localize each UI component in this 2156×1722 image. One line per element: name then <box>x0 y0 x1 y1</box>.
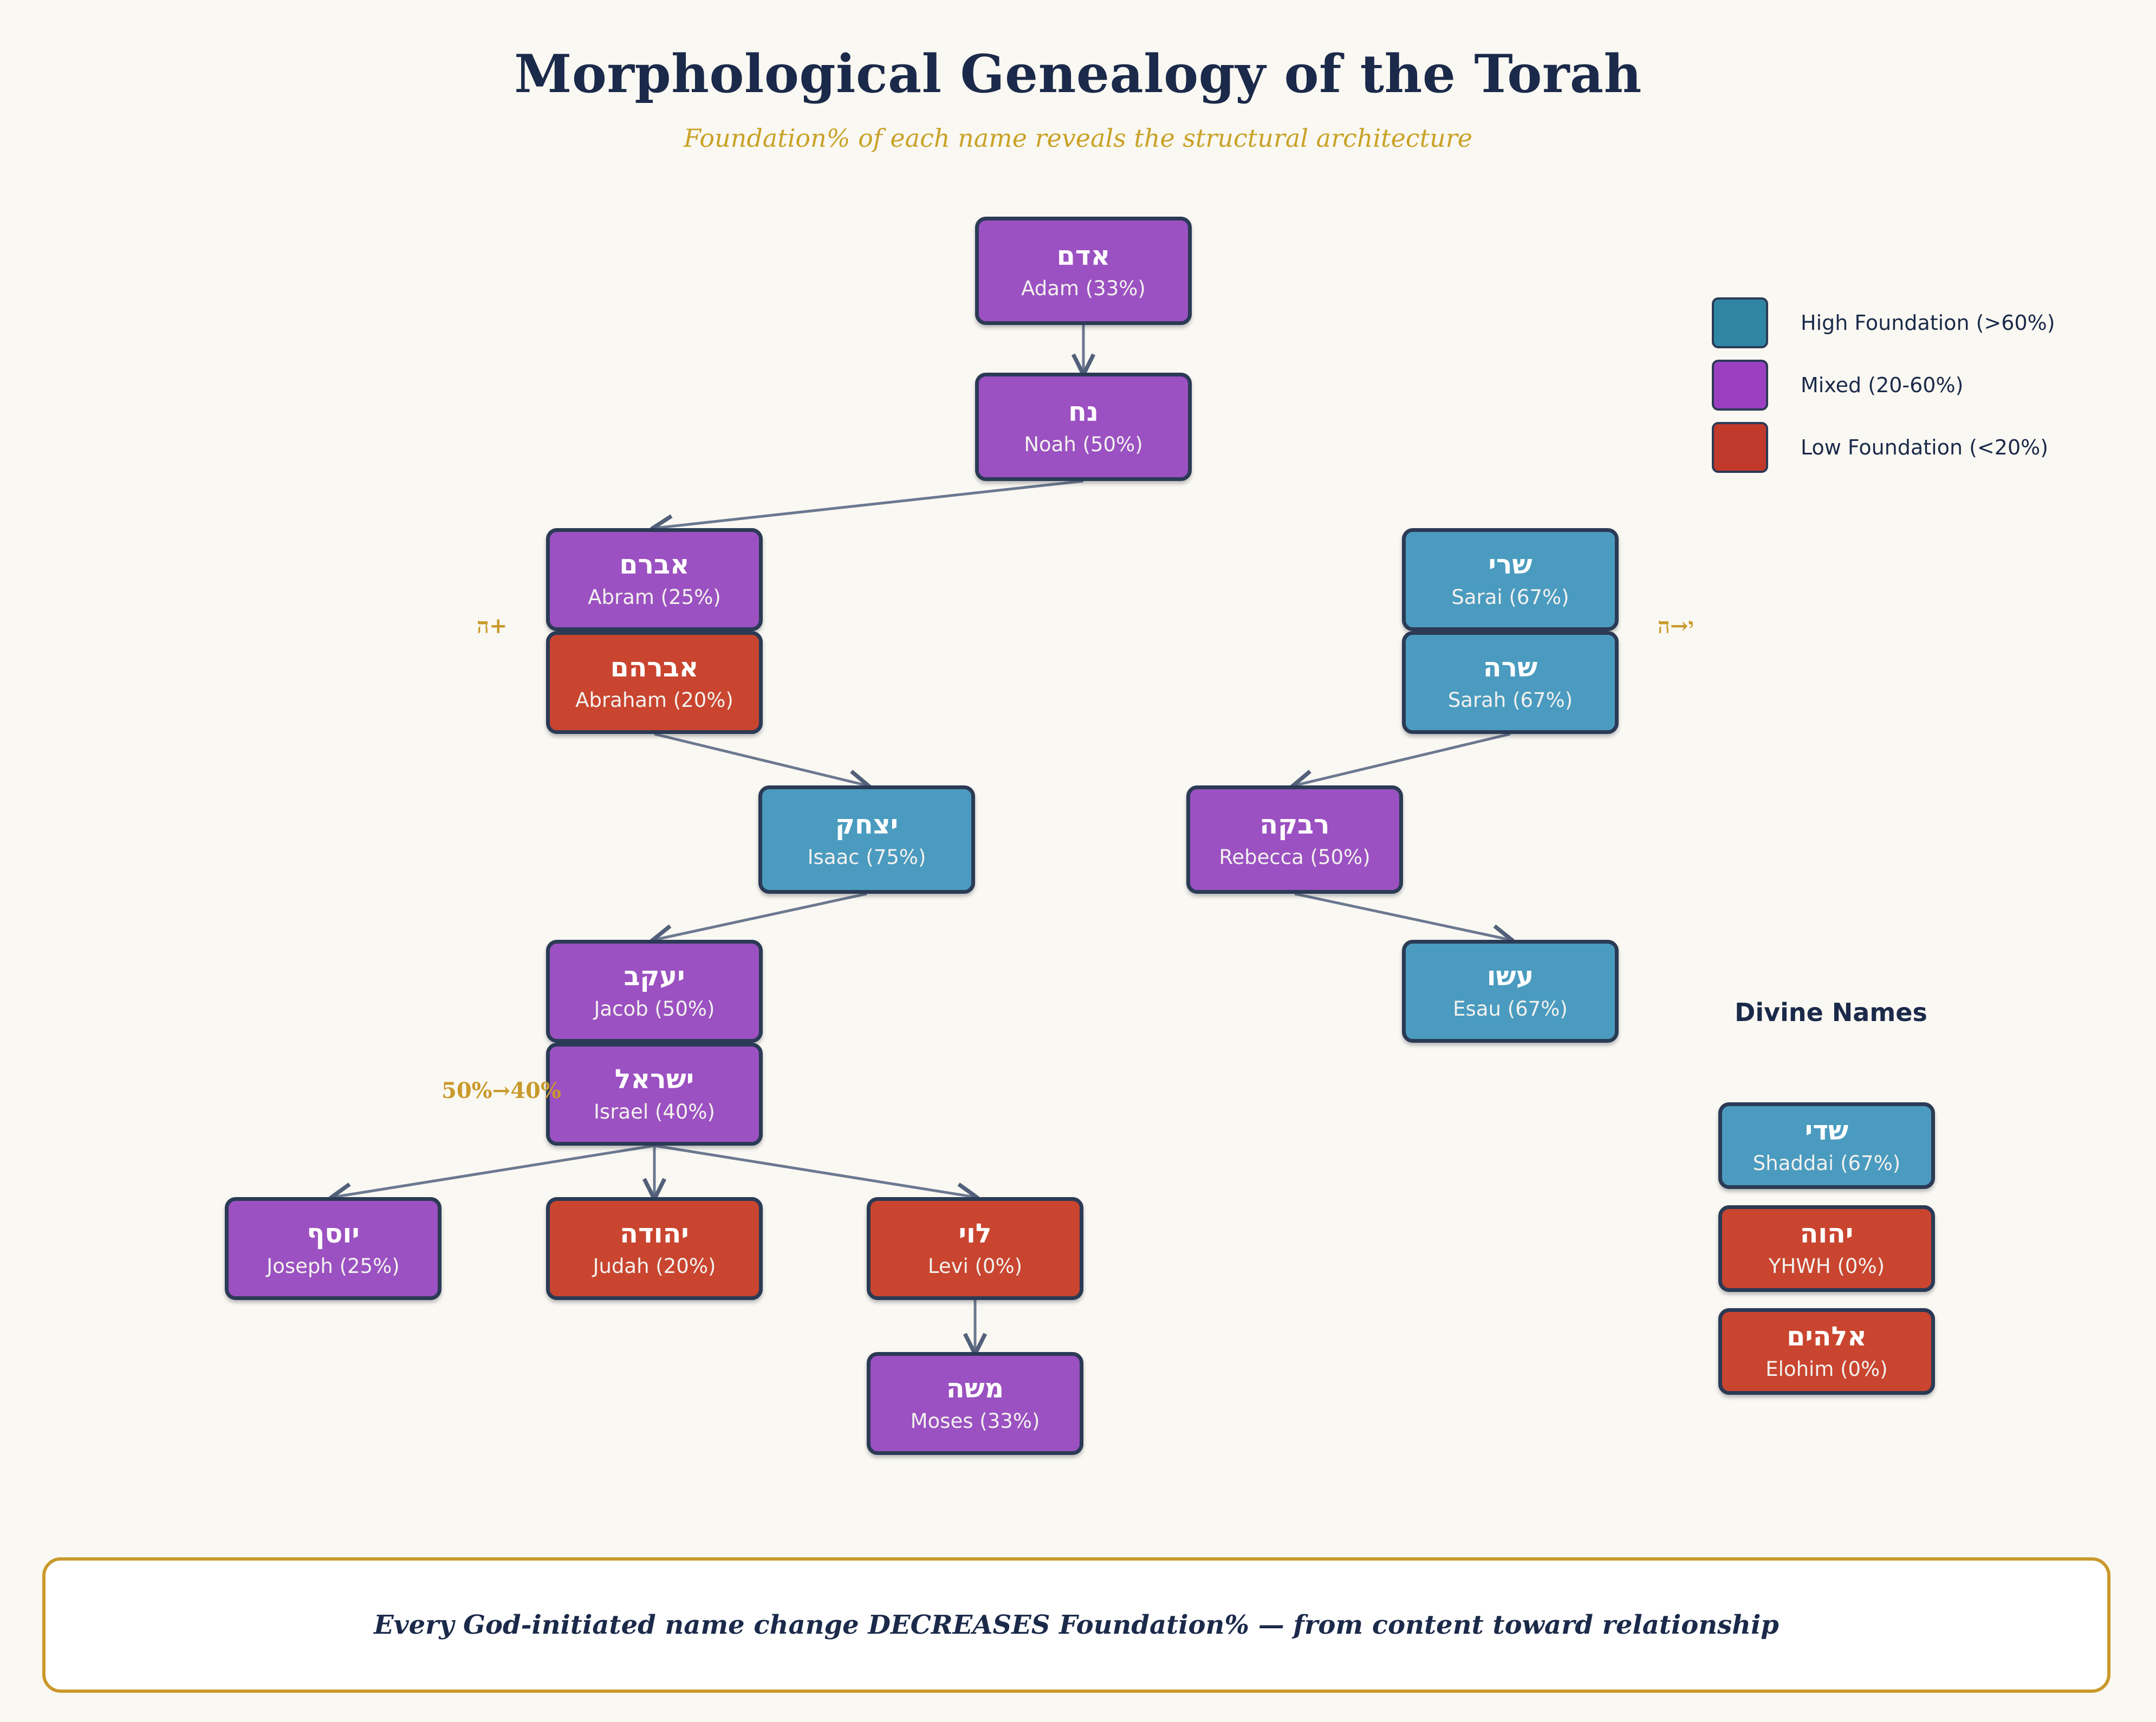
legend-label-0: High Foundation (>60%) <box>1801 311 2055 335</box>
node-hebrew-name: אדם <box>1057 242 1111 270</box>
footer-text: Every God-initiated name change DECREASE… <box>374 1610 1779 1640</box>
node-english-label: Joseph (25%) <box>267 1256 399 1277</box>
node-hebrew-name: עשו <box>1487 963 1534 990</box>
legend-row-0: High Foundation (>60%) <box>1712 291 2091 354</box>
transform-label-abram-to-abraham: ה+ <box>477 613 508 639</box>
node-hebrew-name: שדי <box>1805 1117 1848 1145</box>
legend-swatch-1 <box>1712 360 1768 411</box>
node-hebrew-name: משה <box>946 1375 1004 1402</box>
divine-node-elohim[interactable]: אלהיםElohim (0%) <box>1718 1308 1935 1395</box>
node-joseph[interactable]: יוסףJoseph (25%) <box>225 1197 441 1300</box>
node-english-label: Moses (33%) <box>911 1411 1040 1432</box>
node-english-label: Judah (20%) <box>593 1256 716 1277</box>
node-sarai[interactable]: שריSarai (67%) <box>1402 528 1619 631</box>
node-hebrew-name: יעקב <box>624 963 685 990</box>
divine-node-shaddai[interactable]: שדיShaddai (67%) <box>1718 1102 1935 1189</box>
node-english-label: Elohim (0%) <box>1765 1359 1887 1380</box>
node-english-label: Sarah (67%) <box>1448 690 1573 711</box>
node-judah[interactable]: יהודהJudah (20%) <box>546 1197 763 1300</box>
node-english-label: Sarai (67%) <box>1451 587 1569 608</box>
node-levi[interactable]: לויLevi (0%) <box>867 1197 1083 1300</box>
legend-label-1: Mixed (20-60%) <box>1801 373 1963 397</box>
node-english-label: YHWH (0%) <box>1769 1256 1885 1277</box>
footer-callout: Every God-initiated name change DECREASE… <box>42 1557 2110 1693</box>
legend-label-2: Low Foundation (<20%) <box>1801 436 2048 459</box>
node-english-label: Levi (0%) <box>928 1256 1022 1277</box>
node-hebrew-name: לוי <box>959 1220 992 1247</box>
node-noah[interactable]: נחNoah (50%) <box>975 373 1192 481</box>
node-isaac[interactable]: יצחקIsaac (75%) <box>758 785 975 894</box>
node-hebrew-name: יצחק <box>835 811 898 839</box>
lineage-edge-israel-to-joseph <box>333 1146 654 1197</box>
lineage-edge-abraham-to-isaac <box>654 734 867 785</box>
divine-node-yhwh[interactable]: יהוהYHWH (0%) <box>1718 1205 1935 1292</box>
node-abraham[interactable]: אברהםAbraham (20%) <box>546 631 763 734</box>
node-hebrew-name: אברם <box>619 551 689 579</box>
node-israel[interactable]: ישראלIsrael (40%) <box>546 1043 763 1146</box>
legend-swatch-0 <box>1712 297 1768 348</box>
transform-label-sarai-to-sarah: י→ה <box>1658 613 1694 639</box>
divine-names-title: Divine Names <box>1679 998 1983 1027</box>
lineage-edge-isaac-to-jacob <box>654 894 867 940</box>
legend-swatch-2 <box>1712 422 1768 473</box>
node-hebrew-name: אברהם <box>611 654 699 681</box>
lineage-edge-israel-to-levi <box>654 1146 975 1197</box>
node-hebrew-name: אלהים <box>1787 1323 1867 1350</box>
node-english-label: Shaddai (67%) <box>1753 1153 1900 1174</box>
legend: High Foundation (>60%)Mixed (20-60%)Low … <box>1712 291 2091 478</box>
node-english-label: Adam (33%) <box>1021 278 1146 300</box>
node-hebrew-name: יהוה <box>1800 1220 1854 1247</box>
node-english-label: Jacob (50%) <box>594 999 715 1020</box>
node-hebrew-name: ישראל <box>615 1065 694 1093</box>
legend-row-1: Mixed (20-60%) <box>1712 354 2091 416</box>
node-english-label: Abraham (20%) <box>575 690 733 711</box>
node-jacob[interactable]: יעקבJacob (50%) <box>546 940 763 1043</box>
node-rebecca[interactable]: רבקהRebecca (50%) <box>1186 785 1403 894</box>
node-english-label: Isaac (75%) <box>808 847 926 868</box>
lineage-edge-noah-to-abram <box>654 481 1083 528</box>
node-moses[interactable]: משהMoses (33%) <box>867 1352 1083 1455</box>
node-adam[interactable]: אדםAdam (33%) <box>975 217 1192 325</box>
lineage-edge-sarah-to-rebecca <box>1295 734 1510 785</box>
node-hebrew-name: שרה <box>1483 654 1537 681</box>
node-abram[interactable]: אברםAbram (25%) <box>546 528 763 631</box>
node-hebrew-name: נח <box>1068 398 1099 426</box>
node-esau[interactable]: עשוEsau (67%) <box>1402 940 1619 1043</box>
node-hebrew-name: יהודה <box>620 1220 689 1247</box>
lineage-edge-rebecca-to-esau <box>1295 894 1510 940</box>
page-subtitle: Foundation% of each name reveals the str… <box>0 124 2156 153</box>
node-english-label: Esau (67%) <box>1453 999 1568 1020</box>
transform-label-jacob-to-israel: 50%→40% <box>441 1078 561 1103</box>
node-english-label: Abram (25%) <box>588 587 721 608</box>
node-hebrew-name: יוסף <box>307 1220 360 1247</box>
node-english-label: Israel (40%) <box>594 1102 715 1123</box>
legend-row-2: Low Foundation (<20%) <box>1712 416 2091 478</box>
node-hebrew-name: שרי <box>1488 551 1532 579</box>
node-hebrew-name: רבקה <box>1259 811 1329 839</box>
page-title: Morphological Genealogy of the Torah <box>0 43 2156 105</box>
node-english-label: Rebecca (50%) <box>1219 847 1370 868</box>
node-english-label: Noah (50%) <box>1024 434 1142 456</box>
node-sarah[interactable]: שרהSarah (67%) <box>1402 631 1619 734</box>
genealogy-diagram: Morphological Genealogy of the Torah Fou… <box>0 0 2156 1722</box>
